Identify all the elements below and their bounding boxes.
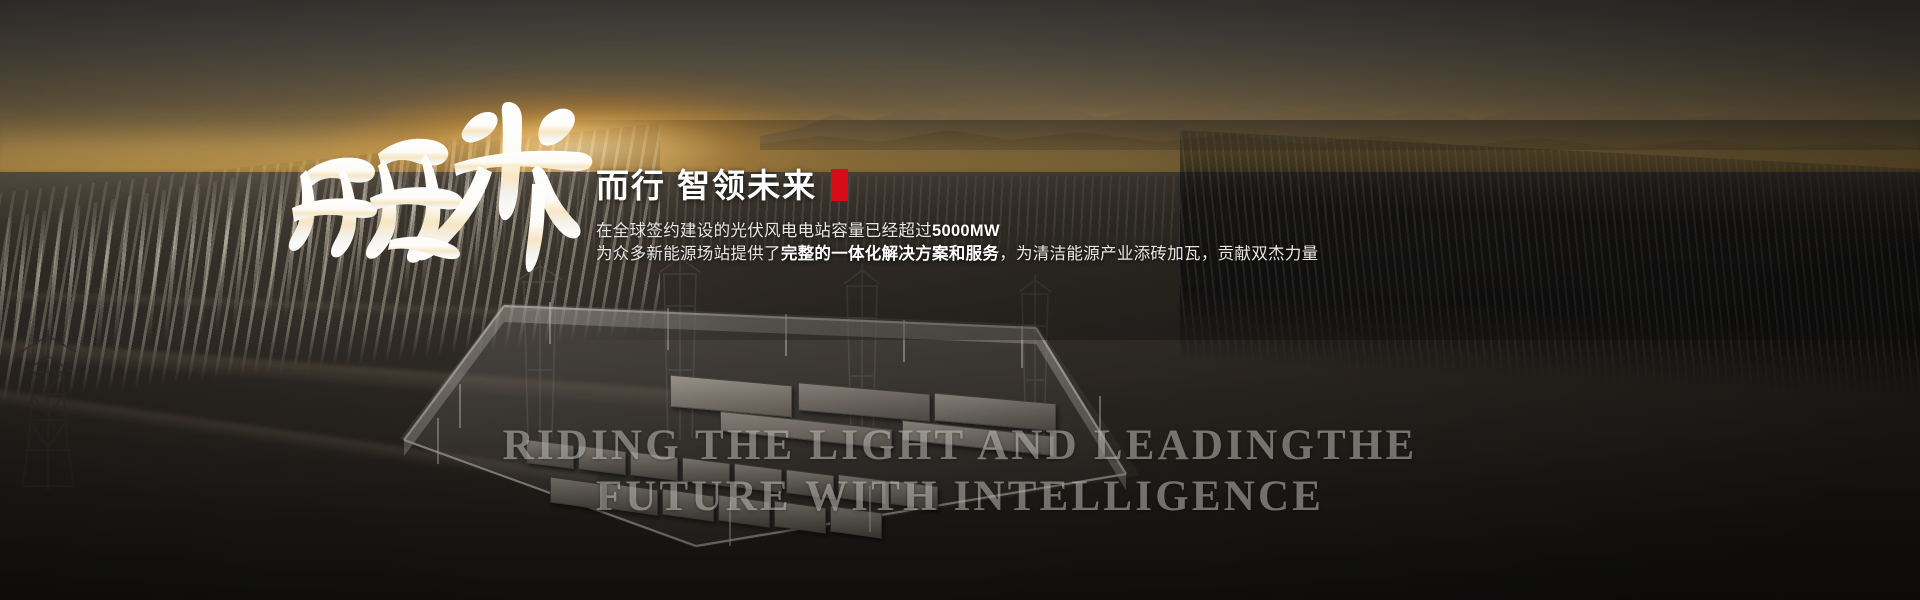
transmission-pylon	[8, 330, 88, 490]
subtitle-line-1: 在全球签约建设的光伏风电电站容量已经超过5000MW	[596, 220, 1796, 243]
copy-block: 而行 智领未来 在全球签约建设的光伏风电电站容量已经超过5000MW 为众多新能…	[596, 164, 1796, 267]
subtitle-emphasis: 5000MW	[932, 222, 1000, 240]
subtitle-text: ，为清洁能源产业添砖加瓦，贡献双杰力量	[999, 245, 1318, 263]
calligraphy-logotype	[286, 58, 596, 273]
battery-storage-compound	[400, 288, 1140, 588]
subtitle-emphasis: 完整的一体化解决方案和服务	[781, 245, 999, 263]
accent-marker	[831, 169, 848, 201]
page-title: 而行 智领未来	[596, 169, 817, 202]
subtitle-line-2: 为众多新能源场站提供了完整的一体化解决方案和服务，为清洁能源产业添砖加瓦，贡献双…	[596, 243, 1796, 266]
headline-row: 而行 智领未来	[596, 164, 1796, 206]
yard-light-poles	[400, 288, 1140, 588]
subtitle-text: 在全球签约建设的光伏风电电站容量已经超过	[596, 222, 932, 240]
subtitle-text: 为众多新能源场站提供了	[596, 245, 781, 263]
hero-banner: 而行 智领未来 在全球签约建设的光伏风电电站容量已经超过5000MW 为众多新能…	[0, 0, 1920, 600]
